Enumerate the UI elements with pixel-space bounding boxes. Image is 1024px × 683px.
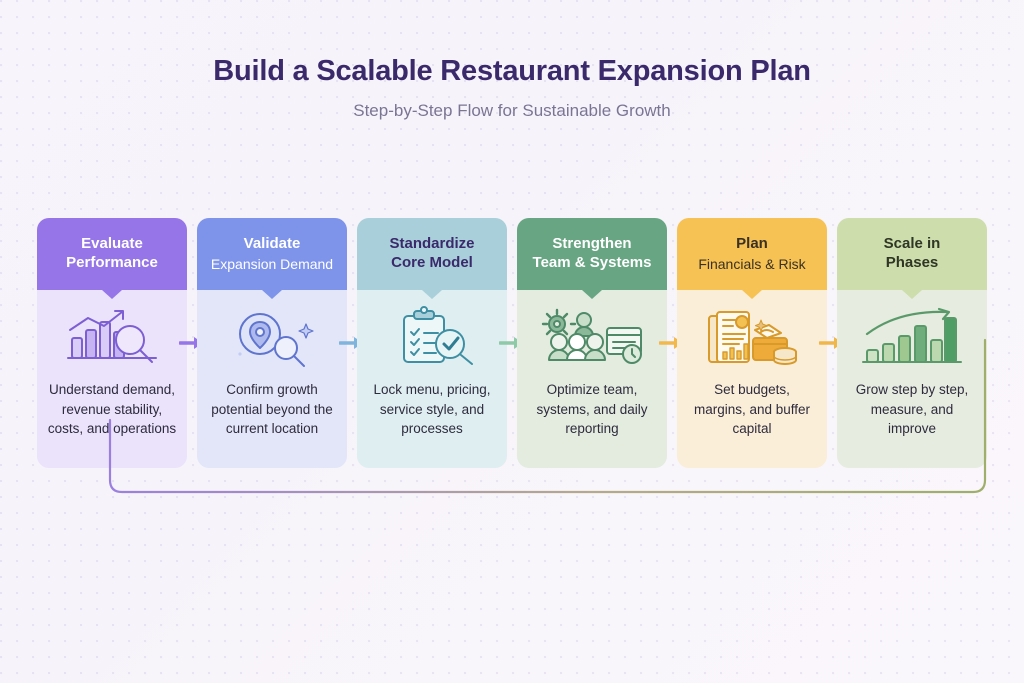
step-card-strengthen-team-systems[interactable]: Strengthen Team & Systems xyxy=(517,218,667,468)
page-subtitle: Step-by-Step Flow for Sustainable Growth xyxy=(0,101,1024,121)
location-pin-magnifier-icon xyxy=(197,290,347,378)
card-title-main: Evaluate xyxy=(81,235,143,254)
card-title-main: Plan xyxy=(736,235,768,254)
step-card-scale-in-phases[interactable]: Scale in Phases xyxy=(837,218,987,468)
card-header: Validate Expansion Demand xyxy=(197,218,347,290)
card-title-sub: Phases xyxy=(886,254,939,273)
arrow-2-to-3 xyxy=(347,218,357,468)
card-title-main: Scale in xyxy=(884,235,941,254)
step-card-plan-financials-risk[interactable]: Plan Financials & Risk xyxy=(677,218,827,468)
team-gear-dashboard-icon xyxy=(517,290,667,378)
card-title-sub: Team & Systems xyxy=(533,254,652,273)
card-description: Understand demand, revenue stability, co… xyxy=(37,378,187,439)
step-card-validate-expansion-demand[interactable]: Validate Expansion Demand xyxy=(197,218,347,468)
infographic-canvas: Build a Scalable Restaurant Expansion Pl… xyxy=(0,0,1024,683)
header: Build a Scalable Restaurant Expansion Pl… xyxy=(0,54,1024,121)
step-cards-row: Evaluate Performance xyxy=(37,218,987,468)
card-header: Plan Financials & Risk xyxy=(677,218,827,290)
card-header: Evaluate Performance xyxy=(37,218,187,290)
card-description: Lock menu, pricing, service style, and p… xyxy=(357,378,507,439)
arrow-5-to-6 xyxy=(827,218,837,468)
card-header: Standardize Core Model xyxy=(357,218,507,290)
arrow-3-to-4 xyxy=(507,218,517,468)
card-title-main: Standardize xyxy=(389,235,474,254)
card-header: Strengthen Team & Systems xyxy=(517,218,667,290)
step-card-standardize-core-model[interactable]: Standardize Core Model xyxy=(357,218,507,468)
page-title: Build a Scalable Restaurant Expansion Pl… xyxy=(0,54,1024,89)
card-description: Optimize team, systems, and daily report… xyxy=(517,378,667,439)
step-card-evaluate-performance[interactable]: Evaluate Performance xyxy=(37,218,187,468)
card-description: Confirm growth potential beyond the curr… xyxy=(197,378,347,439)
card-description: Grow step by step, measure, and improve xyxy=(837,378,987,439)
card-title-sub: Core Model xyxy=(391,254,473,273)
arrow-1-to-2 xyxy=(187,218,197,468)
card-title-main: Strengthen xyxy=(552,235,631,254)
card-title-sub: Expansion Demand xyxy=(211,256,333,274)
arrow-4-to-5 xyxy=(667,218,677,468)
card-title-sub: Financials & Risk xyxy=(698,256,805,274)
card-title-sub: Performance xyxy=(66,254,158,273)
growth-bar-chart-arrow-icon xyxy=(837,290,987,378)
financial-report-wallet-coins-icon xyxy=(677,290,827,378)
clipboard-checklist-magnifier-icon xyxy=(357,290,507,378)
card-title-main: Validate xyxy=(244,235,301,254)
card-description: Set budgets, margins, and buffer capital xyxy=(677,378,827,439)
card-header: Scale in Phases xyxy=(837,218,987,290)
bar-chart-magnifier-icon xyxy=(37,290,187,378)
